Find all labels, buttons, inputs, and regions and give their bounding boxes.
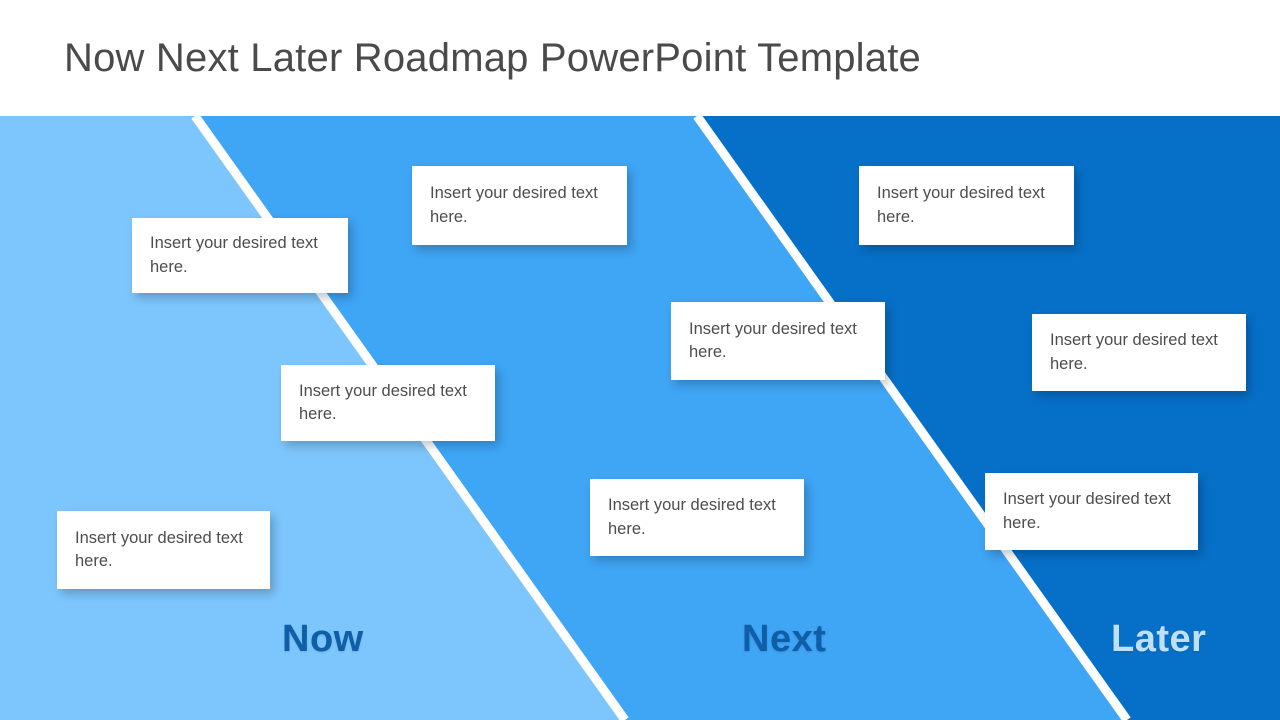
diagonal-bands: [0, 116, 1280, 720]
callout-box-3[interactable]: Insert your desired text here.: [859, 166, 1074, 245]
callout-box-2[interactable]: Insert your desired text here.: [412, 166, 627, 245]
phase-label-next: Next: [742, 618, 826, 661]
phase-label-later: Later: [1111, 618, 1206, 661]
phase-label-now: Now: [282, 618, 364, 661]
page-title: Now Next Later Roadmap PowerPoint Templa…: [64, 36, 921, 81]
callout-box-7[interactable]: Insert your desired text here.: [57, 511, 270, 589]
callout-box-9[interactable]: Insert your desired text here.: [985, 473, 1198, 550]
title-bar: Now Next Later Roadmap PowerPoint Templa…: [0, 0, 1280, 116]
callout-box-1[interactable]: Insert your desired text here.: [132, 218, 348, 293]
roadmap-stage: Now Next Later: [0, 116, 1280, 720]
slide-canvas: Now Next Later Roadmap PowerPoint Templa…: [0, 0, 1280, 720]
callout-text-2[interactable]: Insert your desired text here.: [412, 182, 627, 229]
callout-box-4[interactable]: Insert your desired text here.: [281, 365, 495, 441]
callout-text-9[interactable]: Insert your desired text here.: [985, 488, 1198, 535]
callout-text-7[interactable]: Insert your desired text here.: [57, 527, 270, 574]
callout-text-6[interactable]: Insert your desired text here.: [1032, 329, 1246, 376]
callout-text-5[interactable]: Insert your desired text here.: [671, 318, 885, 365]
callout-box-8[interactable]: Insert your desired text here.: [590, 479, 804, 556]
callout-text-4[interactable]: Insert your desired text here.: [281, 380, 495, 427]
callout-text-8[interactable]: Insert your desired text here.: [590, 494, 804, 541]
bands-svg: [0, 116, 1280, 720]
callout-box-6[interactable]: Insert your desired text here.: [1032, 314, 1246, 391]
callout-text-1[interactable]: Insert your desired text here.: [132, 232, 348, 279]
callout-text-3[interactable]: Insert your desired text here.: [859, 182, 1074, 229]
callout-box-5[interactable]: Insert your desired text here.: [671, 302, 885, 380]
